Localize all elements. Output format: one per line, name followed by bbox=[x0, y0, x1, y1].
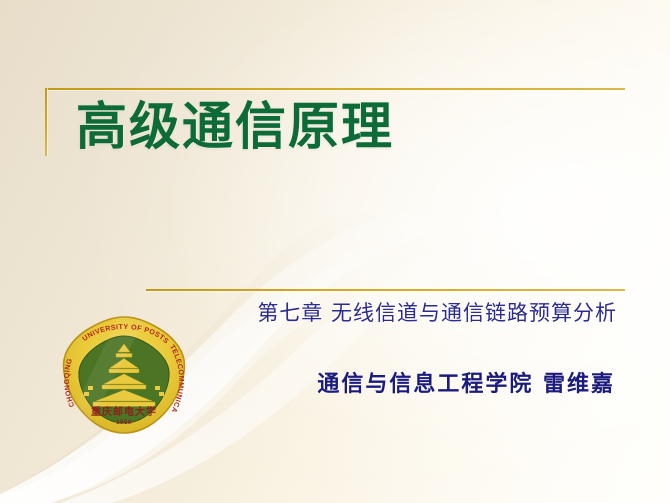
university-logo-icon: CHONGQING UNIVERSITY OF POSTS AND TELECO… bbox=[60, 314, 188, 438]
top-gold-rule-horizontal bbox=[45, 88, 625, 90]
page-title: 高级通信原理 bbox=[76, 101, 394, 155]
top-gold-rule-vertical bbox=[45, 88, 47, 156]
emblem-founded-year: 1950 bbox=[116, 420, 132, 426]
emblem-chinese-name: 重庆邮电大学 bbox=[91, 405, 157, 418]
middle-gold-rule bbox=[146, 289, 625, 291]
presentation-title-slide: 高级通信原理 第七章 无线信道与通信链路预算分析 通信与信息工程学院 雷维嘉 bbox=[0, 0, 670, 503]
